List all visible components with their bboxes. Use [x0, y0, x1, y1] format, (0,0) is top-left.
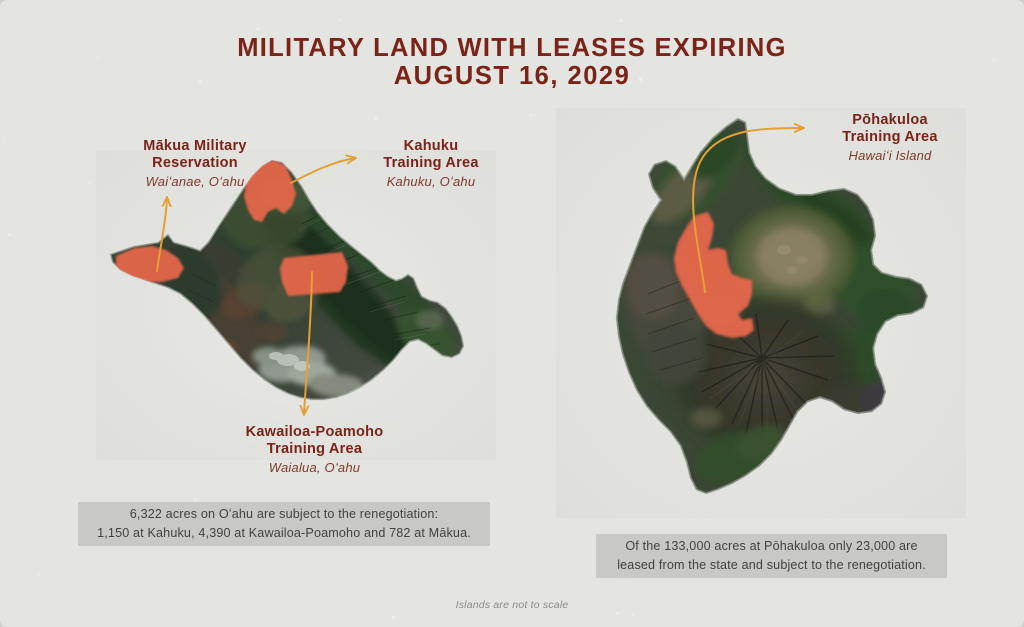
callout-kawailoa-name-line1: Kawailoa-Poamoho — [212, 424, 417, 441]
callout-kahuku-place: Kahuku, Oʻahu — [336, 173, 526, 190]
caption-hawaii: Of the 133,000 acres at Pōhakuloa only 2… — [596, 534, 947, 578]
callout-pohakuloa-place: Hawaiʻi Island — [790, 147, 990, 164]
callout-makua-name-line1: Mākua Military — [80, 138, 310, 155]
title-line-1: MILITARY LAND WITH LEASES EXPIRING — [0, 34, 1024, 62]
callout-kawailoa-name-line2: Training Area — [212, 441, 417, 458]
page-title: MILITARY LAND WITH LEASES EXPIRING AUGUS… — [0, 34, 1024, 90]
parcel-kawailoa — [280, 252, 348, 296]
callout-makua: Mākua Military Reservation Waiʻanae, Oʻa… — [80, 138, 310, 190]
caption-oahu-line2: 1,150 at Kahuku, 4,390 at Kawailoa-Poamo… — [97, 524, 471, 543]
infographic-canvas: MILITARY LAND WITH LEASES EXPIRING AUGUS… — [0, 0, 1024, 627]
callout-kawailoa-place: Waialua, Oʻahu — [212, 459, 417, 476]
callout-kahuku: Kahuku Training Area Kahuku, Oʻahu — [336, 138, 526, 190]
caption-hawaii-line2: leased from the state and subject to the… — [617, 556, 926, 575]
caption-oahu: 6,322 acres on Oʻahu are subject to the … — [78, 502, 490, 546]
callout-makua-place: Waiʻanae, Oʻahu — [80, 173, 310, 190]
title-line-2: AUGUST 16, 2029 — [0, 62, 1024, 90]
oahu-island-map — [96, 150, 496, 460]
callout-pohakuloa-name-line2: Training Area — [790, 129, 990, 146]
callout-pohakuloa: Pōhakuloa Training Area Hawaiʻi Island — [790, 112, 990, 164]
callout-kahuku-name-line1: Kahuku — [336, 138, 526, 155]
callout-kahuku-name-line2: Training Area — [336, 155, 526, 172]
hawaii-island-map — [556, 108, 966, 518]
callout-pohakuloa-name-line1: Pōhakuloa — [790, 112, 990, 129]
callout-kawailoa: Kawailoa-Poamoho Training Area Waialua, … — [212, 424, 417, 476]
caption-oahu-line1: 6,322 acres on Oʻahu are subject to the … — [130, 505, 438, 524]
caption-hawaii-line1: Of the 133,000 acres at Pōhakuloa only 2… — [625, 537, 917, 556]
callout-makua-name-line2: Reservation — [80, 155, 310, 172]
scale-footnote: Islands are not to scale — [0, 599, 1024, 611]
